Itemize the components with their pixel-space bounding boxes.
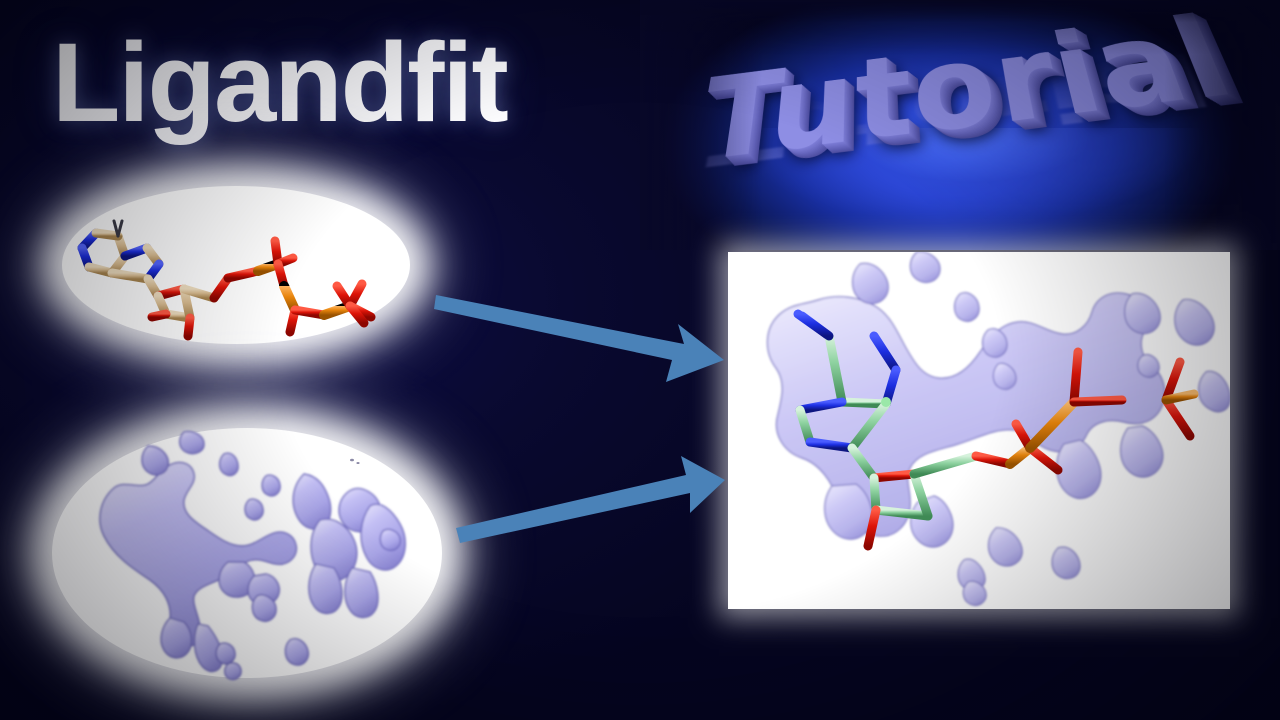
vignette-overlay <box>0 0 1280 720</box>
slide-canvas: Tutorial Tutorial Ligandfit <box>0 0 1280 720</box>
